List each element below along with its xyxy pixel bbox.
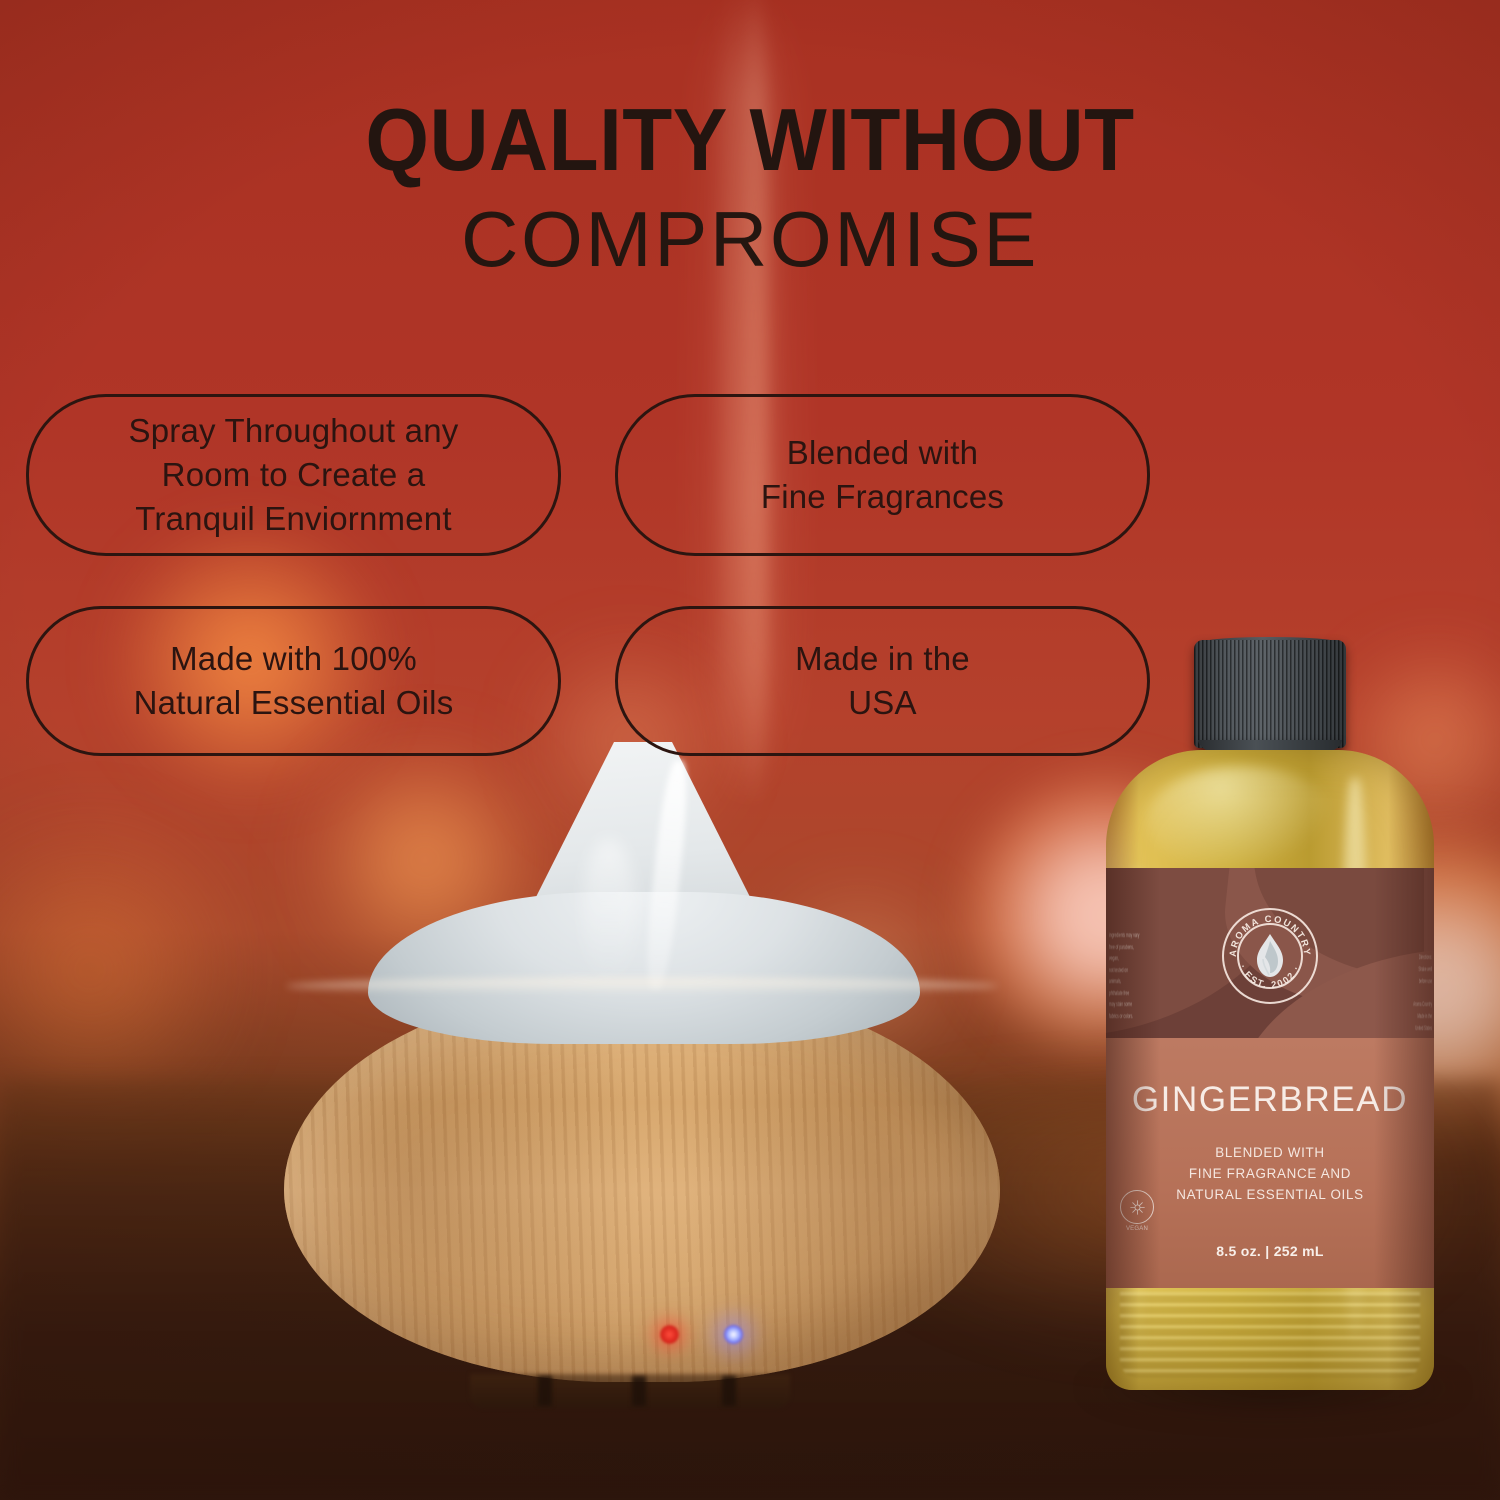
diffuser-rim-highlight [286, 978, 998, 994]
brand-logo-badge: · AROMA COUNTRY · · EST. 2002 · [1222, 908, 1318, 1004]
label-side-text-left: ingredients may vary free of parabens, v… [1109, 930, 1140, 1022]
diffuser-cone-base [368, 892, 920, 1044]
feature-pill-grid: Spray Throughout any Room to Create a Tr… [26, 394, 1150, 756]
feature-pill-label: Spray Throughout any Room to Create a Tr… [129, 409, 459, 541]
headline-line-1: QUALITY WITHOUT [53, 96, 1448, 184]
feature-pill-label: Made in the USA [795, 637, 970, 725]
feature-pill-label: Blended with Fine Fragrances [761, 431, 1004, 519]
cone-gloss-soft [582, 838, 636, 988]
feature-pill-natural-essential-oils: Made with 100% Natural Essential Oils [26, 606, 561, 756]
oil-bottle-product-image: ingredients may vary free of parabens, v… [1100, 640, 1440, 1400]
product-subtitle: BLENDED WITH FINE FRAGRANCE AND NATURAL … [1106, 1143, 1434, 1205]
feature-pill-spray-throughout-room: Spray Throughout any Room to Create a Tr… [26, 394, 561, 556]
bottle-cap [1194, 640, 1346, 748]
flame-icon [1250, 932, 1290, 980]
product-name: GINGERBREAD [1106, 1080, 1434, 1120]
glass-shoulder-gloss [1146, 766, 1336, 876]
vegan-badge-label: VEGAN [1120, 1226, 1154, 1232]
bottle-base-rings [1120, 1292, 1420, 1378]
feature-pill-label: Made with 100% Natural Essential Oils [134, 637, 454, 725]
led-indicator-red [660, 1325, 679, 1344]
product-volume: 8.5 oz. | 252 mL [1106, 1243, 1434, 1259]
label-side-text-right: Directions: Shake well before use Aroma … [1411, 952, 1432, 1034]
diffuser-product-image [262, 742, 1022, 1402]
feature-pill-blended-fine-fragrances: Blended with Fine Fragrances [615, 394, 1150, 556]
product-marketing-image: QUALITY WITHOUT COMPROMISE Spray Through… [0, 0, 1500, 1500]
led-indicator-blue [724, 1325, 743, 1344]
bottle-label: ingredients may vary free of parabens, v… [1106, 868, 1434, 1288]
bottle-glass: ingredients may vary free of parabens, v… [1106, 750, 1434, 1390]
headline-line-2: COMPROMISE [0, 200, 1500, 278]
page-title: QUALITY WITHOUT COMPROMISE [0, 96, 1500, 278]
diffuser-base-feet [470, 1374, 790, 1408]
vegan-badge-icon [1120, 1190, 1154, 1224]
feature-pill-made-in-usa: Made in the USA [615, 606, 1150, 756]
